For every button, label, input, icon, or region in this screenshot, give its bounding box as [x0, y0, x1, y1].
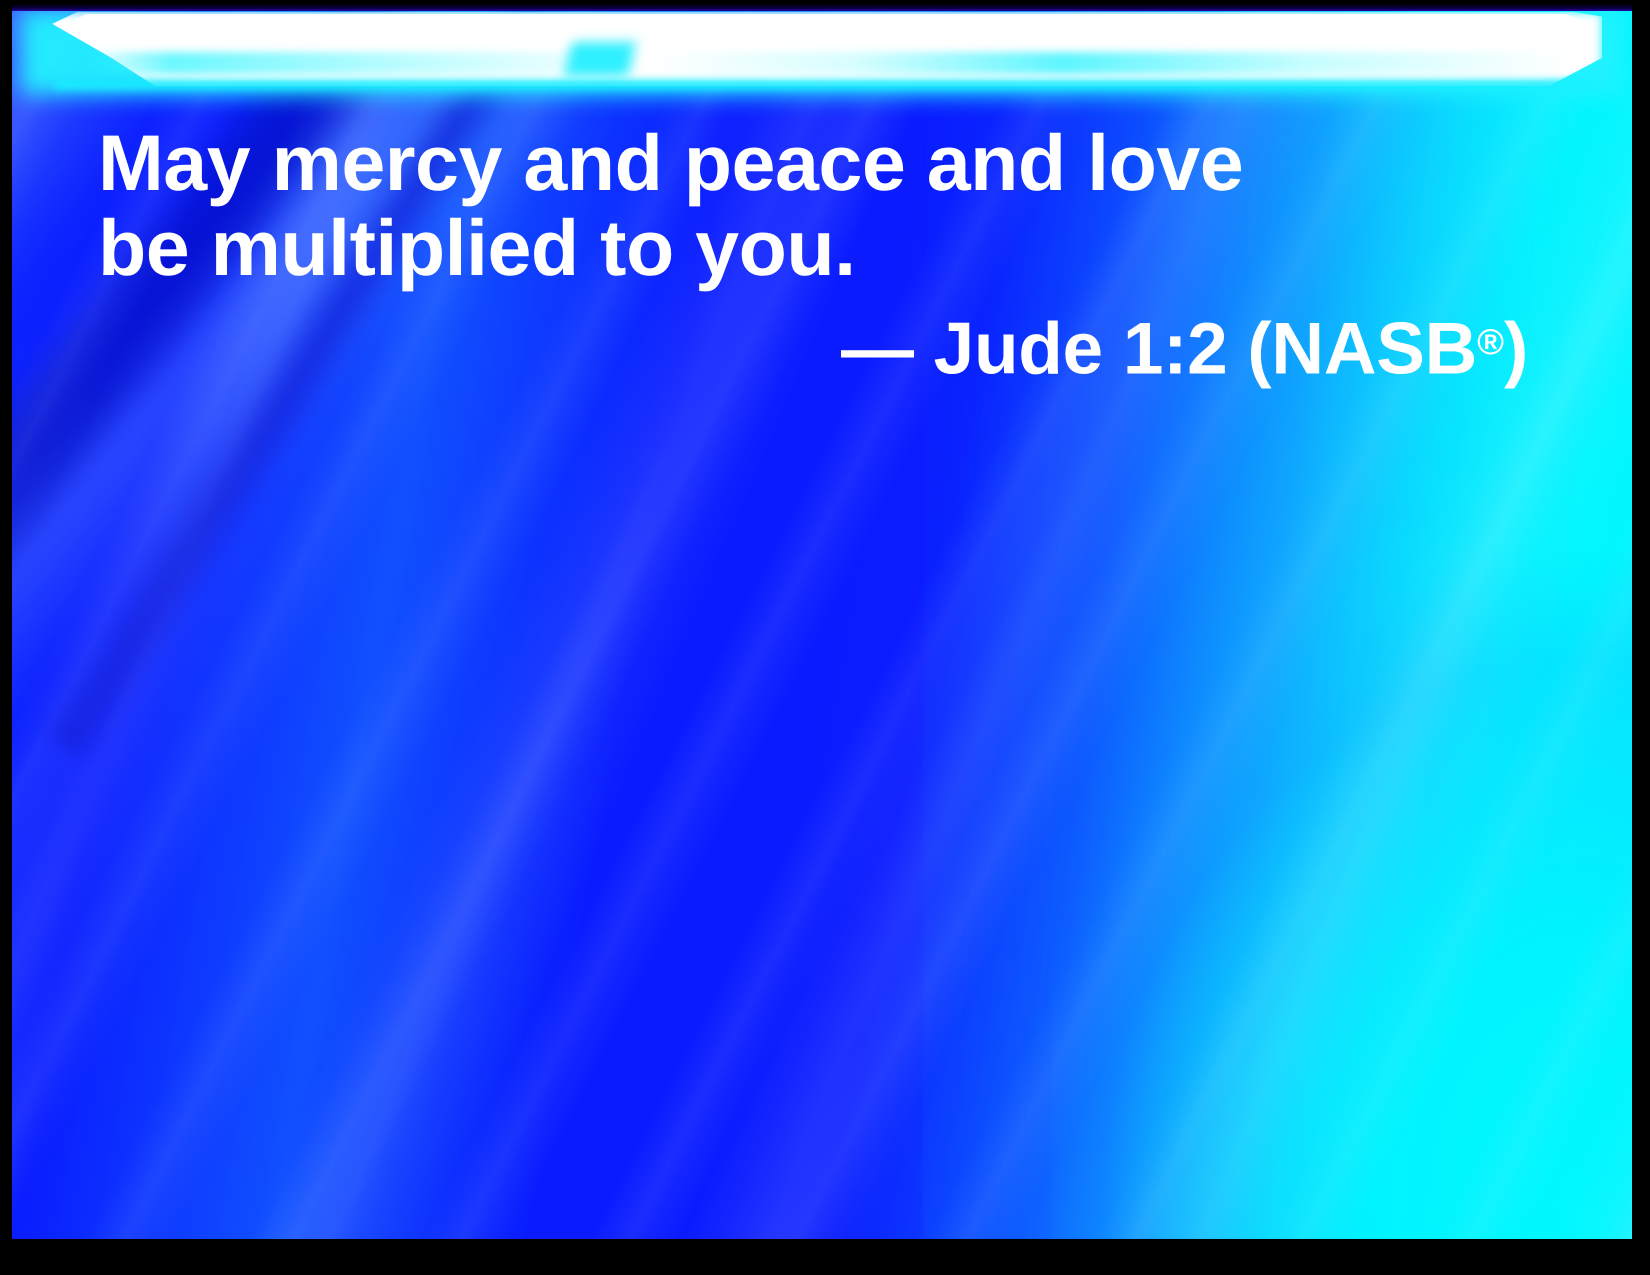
registered-trademark-icon: ®	[1477, 321, 1504, 362]
verse-text: May mercy and peace and love be multipli…	[98, 120, 1318, 290]
attribution-reference: Jude 1:2 (NASB	[914, 309, 1477, 390]
verse-attribution: — Jude 1:2 (NASB®)	[12, 300, 1528, 392]
slide-artwork-canvas: May mercy and peace and love be multipli…	[12, 4, 1632, 1239]
attribution-em-dash: —	[841, 309, 914, 390]
attribution-closing-paren: )	[1504, 309, 1528, 390]
scripture-slide: May mercy and peace and love be multipli…	[0, 0, 1650, 1275]
